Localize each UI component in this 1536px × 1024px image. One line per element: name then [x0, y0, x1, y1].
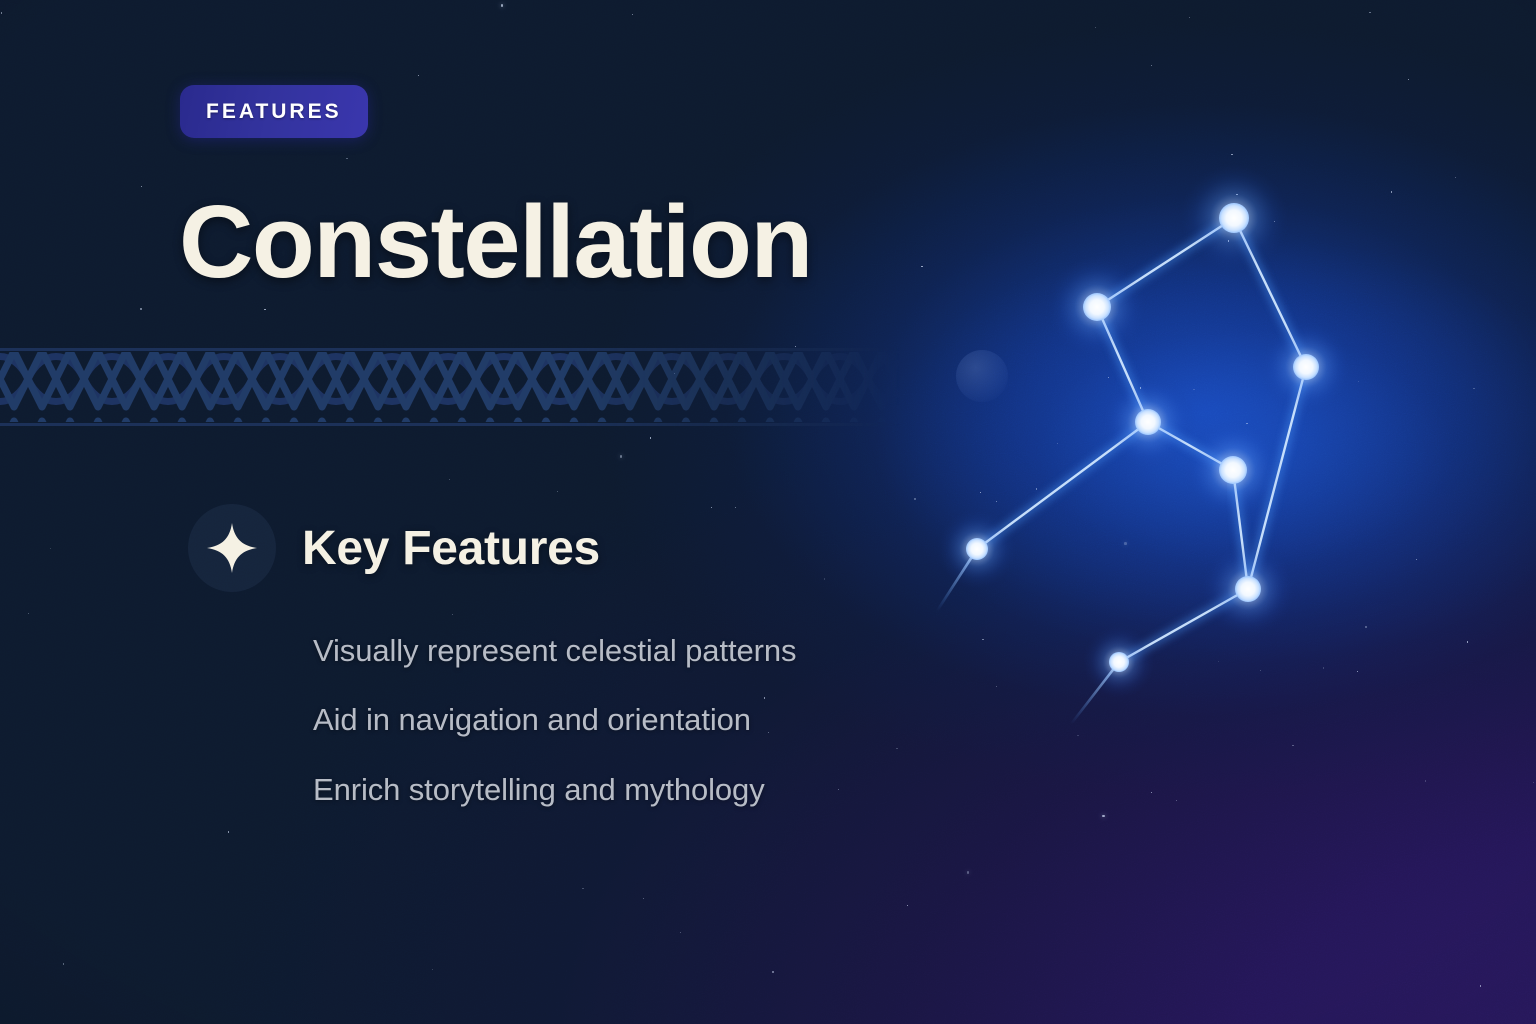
key-features-header: Key Features — [188, 504, 600, 592]
content-column: FEATURES Constellation — [0, 0, 920, 1024]
constellation-star[interactable] — [1293, 354, 1319, 380]
constellation-star[interactable] — [1219, 203, 1249, 233]
features-badge-label: FEATURES — [206, 100, 342, 124]
constellation-star[interactable] — [1219, 456, 1247, 484]
sparkle-star-icon-badge — [188, 504, 276, 592]
features-list: Visually represent celestial patternsAid… — [313, 624, 913, 816]
constellation-star[interactable] — [1235, 576, 1261, 602]
feature-item: Enrich storytelling and mythology — [313, 763, 913, 816]
key-features-heading: Key Features — [302, 521, 600, 576]
feature-item: Visually represent celestial patterns — [313, 624, 913, 677]
decorative-knot-band — [0, 344, 900, 430]
features-badge[interactable]: FEATURES — [180, 85, 368, 138]
page-title: Constellation — [179, 186, 812, 297]
feature-item: Aid in navigation and orientation — [313, 693, 913, 746]
sparkle-star-icon — [205, 521, 259, 575]
constellation-star[interactable] — [1083, 293, 1111, 321]
constellation-star[interactable] — [966, 538, 988, 560]
constellation-star[interactable] — [1109, 652, 1129, 672]
constellation-star[interactable] — [1135, 409, 1161, 435]
